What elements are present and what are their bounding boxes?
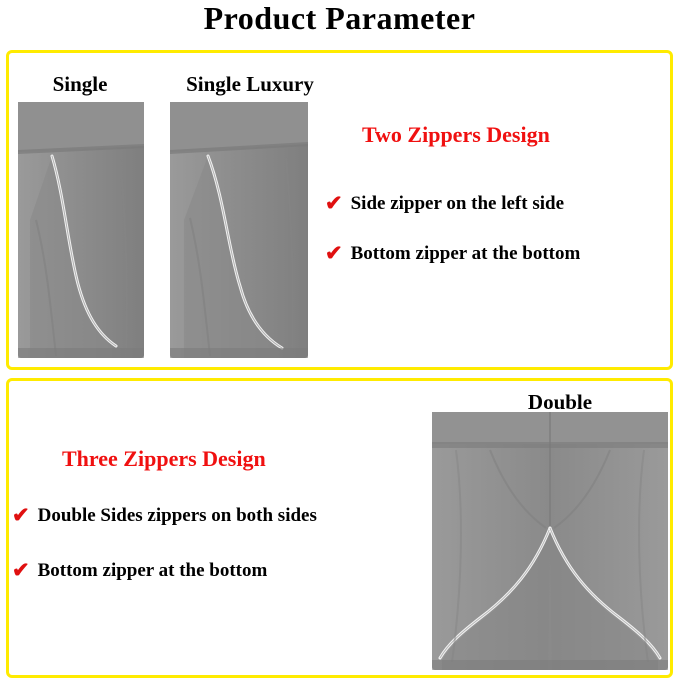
double-sheet-illustration [430,410,670,672]
check-icon: ✔ [12,560,30,581]
bottom-panel-bullet-2-text: Bottom zipper at the bottom [38,560,268,582]
page-title: Product Parameter [0,0,679,37]
single-luxury-sheet-illustration [168,100,310,360]
check-icon: ✔ [325,243,343,264]
top-panel-bullet-2-text: Bottom zipper at the bottom [351,243,581,265]
bottom-panel-headline: Three Zippers Design [62,446,266,472]
bottom-panel-bullet-1-text: Double Sides zippers on both sides [38,505,317,527]
product-parameter-page: Product Parameter Single Single Luxury [0,0,679,685]
top-panel-bullet-2: ✔ Bottom zipper at the bottom [325,243,580,265]
bottom-panel-bullet-1: ✔ Double Sides zippers on both sides [12,505,317,527]
top-panel-bullet-1-text: Side zipper on the left side [351,193,564,215]
top-panel-bullet-1: ✔ Side zipper on the left side [325,193,564,215]
check-icon: ✔ [12,505,30,526]
bottom-panel-bullet-2: ✔ Bottom zipper at the bottom [12,560,267,582]
check-icon: ✔ [325,193,343,214]
label-single-luxury: Single Luxury [150,72,350,97]
single-sheet-illustration [16,100,146,360]
top-panel-headline: Two Zippers Design [362,122,550,148]
label-single: Single [20,72,140,97]
